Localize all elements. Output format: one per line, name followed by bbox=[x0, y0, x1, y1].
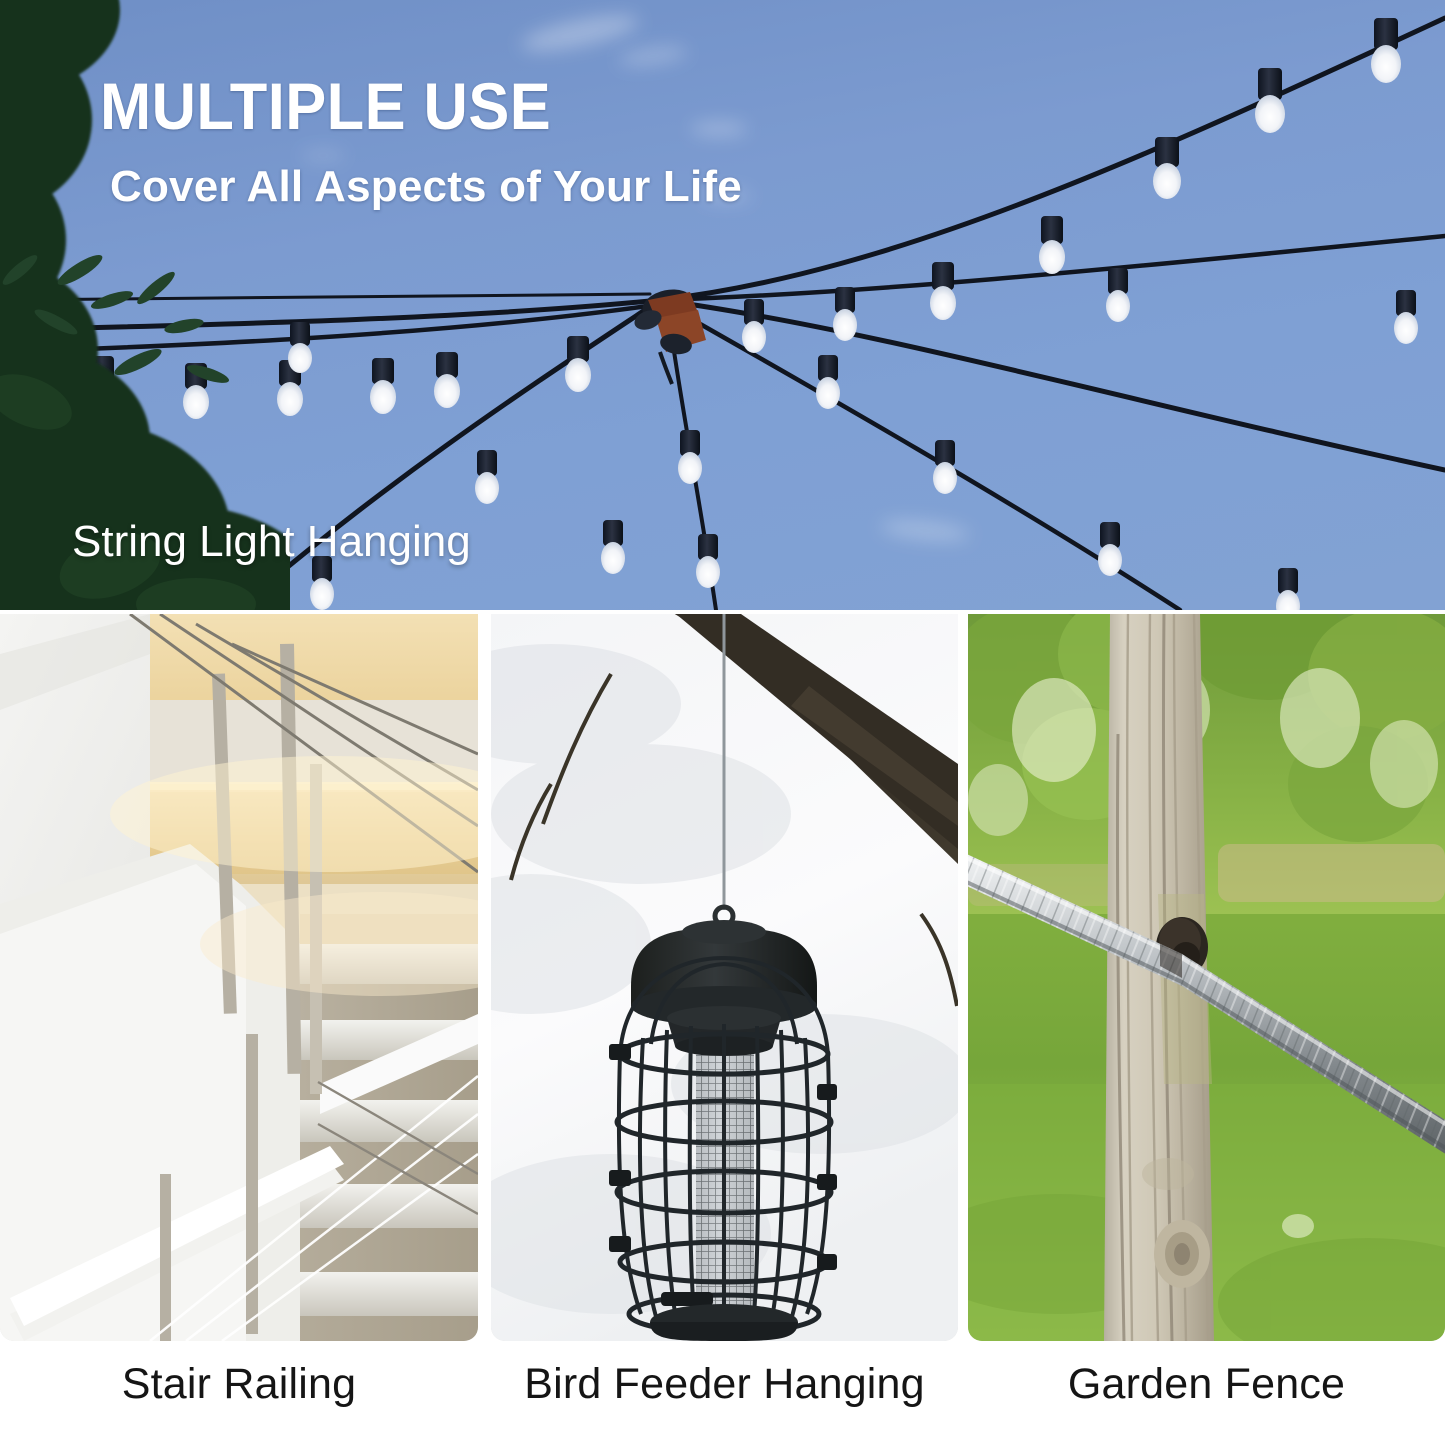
hero-panel-string-light-hanging: MULTIPLE USE Cover All Aspects of Your L… bbox=[0, 0, 1445, 610]
panel-bird-feeder-hanging bbox=[491, 614, 958, 1341]
infographic-page: MULTIPLE USE Cover All Aspects of Your L… bbox=[0, 0, 1445, 1445]
panel-stair-railing bbox=[0, 614, 478, 1341]
panel-garden-fence bbox=[968, 614, 1445, 1341]
hero-title: MULTIPLE USE bbox=[100, 73, 551, 139]
garden-fence-photo bbox=[968, 614, 1445, 1341]
bird-feeder-photo bbox=[491, 614, 958, 1341]
caption-bird-feeder-hanging: Bird Feeder Hanging bbox=[491, 1363, 958, 1406]
hero-scene-caption: String Light Hanging bbox=[72, 520, 471, 564]
caption-row: Stair Railing Bird Feeder Hanging Garden… bbox=[0, 1341, 1445, 1445]
use-case-panel-row bbox=[0, 614, 1445, 1341]
caption-stair-railing: Stair Railing bbox=[0, 1363, 478, 1406]
stair-railing-photo bbox=[0, 614, 478, 1341]
hero-subtitle: Cover All Aspects of Your Life bbox=[110, 165, 742, 209]
caption-garden-fence: Garden Fence bbox=[968, 1363, 1445, 1406]
